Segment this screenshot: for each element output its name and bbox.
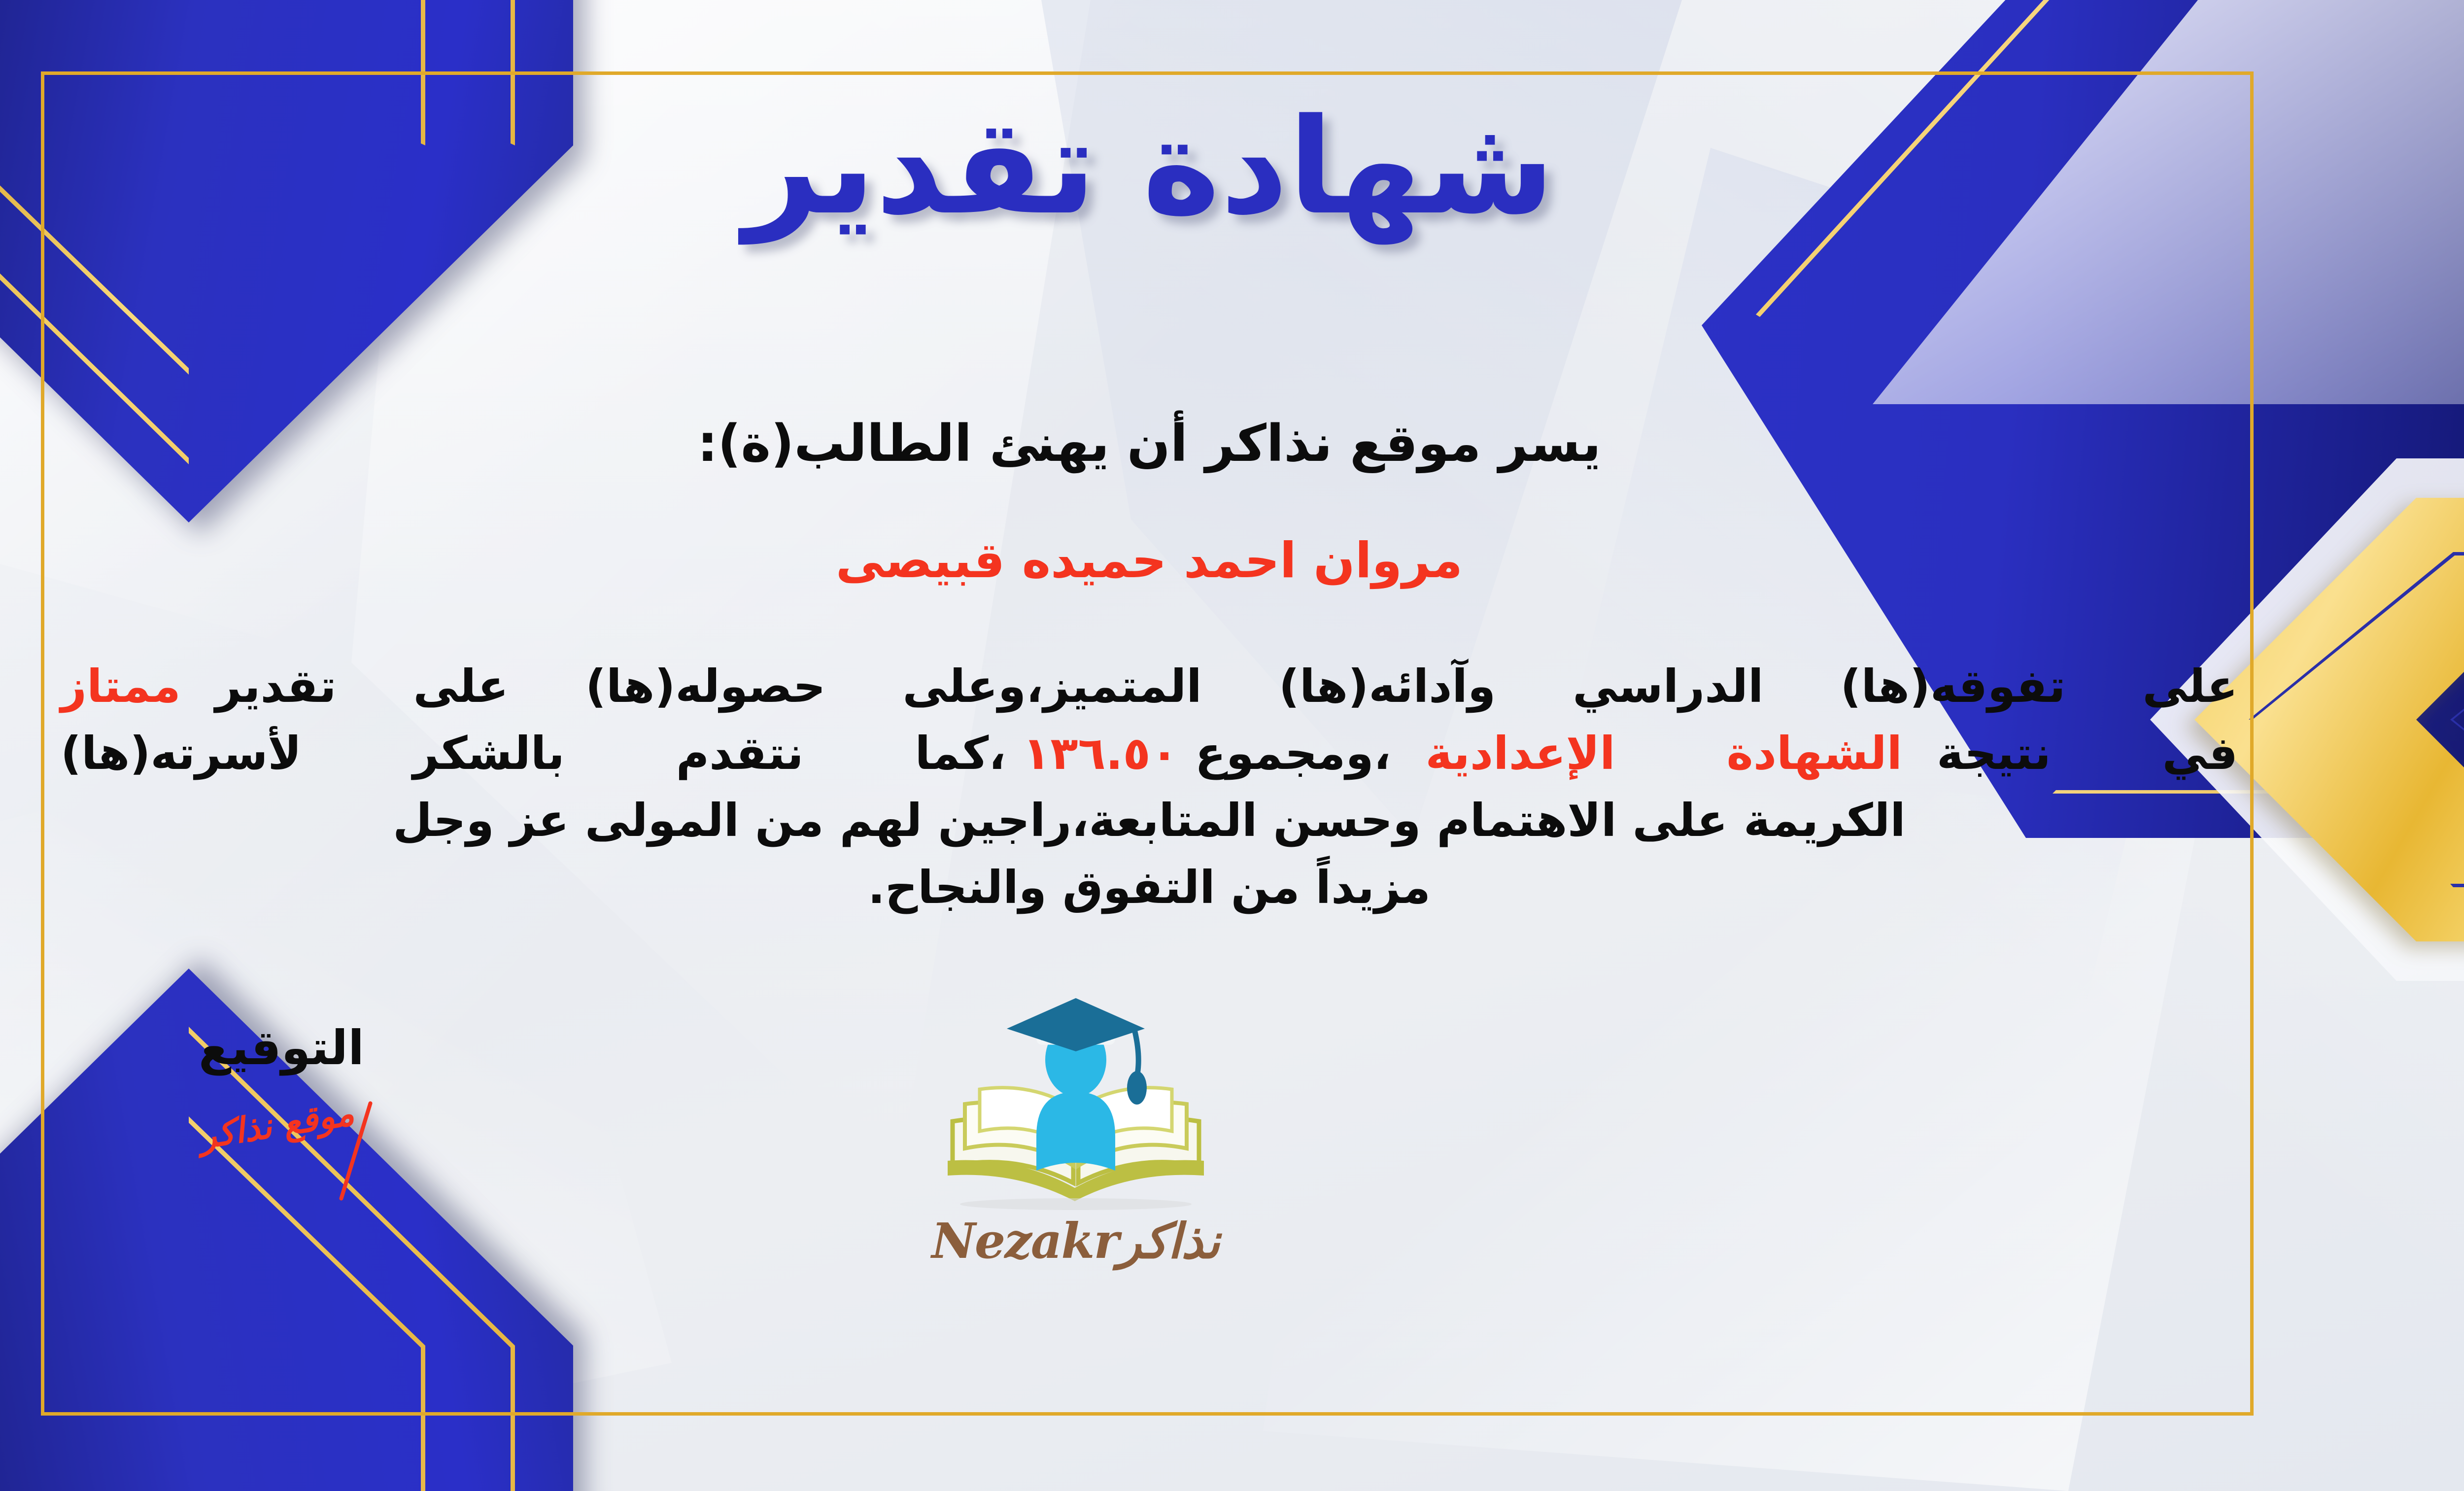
signature-mark: موقع نذاكر	[127, 1081, 426, 1168]
logo-wordmark: نذاكرNezakr	[923, 1213, 1229, 1270]
citation-body: على تفوقه(ها) الدراسي وآدائه(ها) المتميز…	[61, 653, 2238, 922]
citation-line-2-prefix: في نتيجة	[1937, 727, 2238, 780]
logo-name-ar: نذاكر	[1118, 1213, 1220, 1270]
page-title: شهادة تقدير	[46, 101, 2253, 233]
certificate-page: شهادة تقدير يسر موقع نذاكر أن يهنئ الطال…	[0, 0, 2464, 1491]
citation-line-2-suffix: ،كما نتقدم بالشكر لأسرته(ها)	[61, 727, 1006, 780]
total-score-value: ١٣٦.٥٠	[1023, 727, 1178, 780]
logo-name-en: Nezakr	[931, 1213, 1118, 1270]
citation-total-label: ،ومجموع	[1195, 727, 1391, 780]
citation-line-1-text: على تفوقه(ها) الدراسي وآدائه(ها) المتميز…	[215, 660, 2238, 713]
citation-line-4: مزيداً من التفوق والنجاح.	[61, 854, 2238, 921]
site-logo: نذاكرNezakr	[923, 998, 1229, 1343]
greeting-text: يسر موقع نذاكر أن يهنئ الطالب(ة):	[46, 414, 2253, 473]
citation-line-3: الكريمة على الاهتمام وحسن المتابعة،راجين…	[61, 787, 2238, 854]
certificate-content: شهادة تقدير يسر موقع نذاكر أن يهنئ الطال…	[46, 74, 2253, 1414]
frame-border-left	[41, 71, 44, 1416]
signature-label: التوقيع	[134, 1020, 429, 1075]
citation-line-1: على تفوقه(ها) الدراسي وآدائه(ها) المتميز…	[61, 653, 2238, 720]
graduate-book-icon	[938, 998, 1214, 1210]
citation-line-2: في نتيجةالشهادة الإعدادية،ومجموع١٣٦.٥٠،ك…	[61, 720, 2238, 787]
exam-name-value: الشهادة الإعدادية	[1426, 727, 1903, 780]
student-name: مروان احمد حميده قبيصى	[46, 532, 2253, 589]
grade-value: ممتاز	[61, 660, 181, 713]
